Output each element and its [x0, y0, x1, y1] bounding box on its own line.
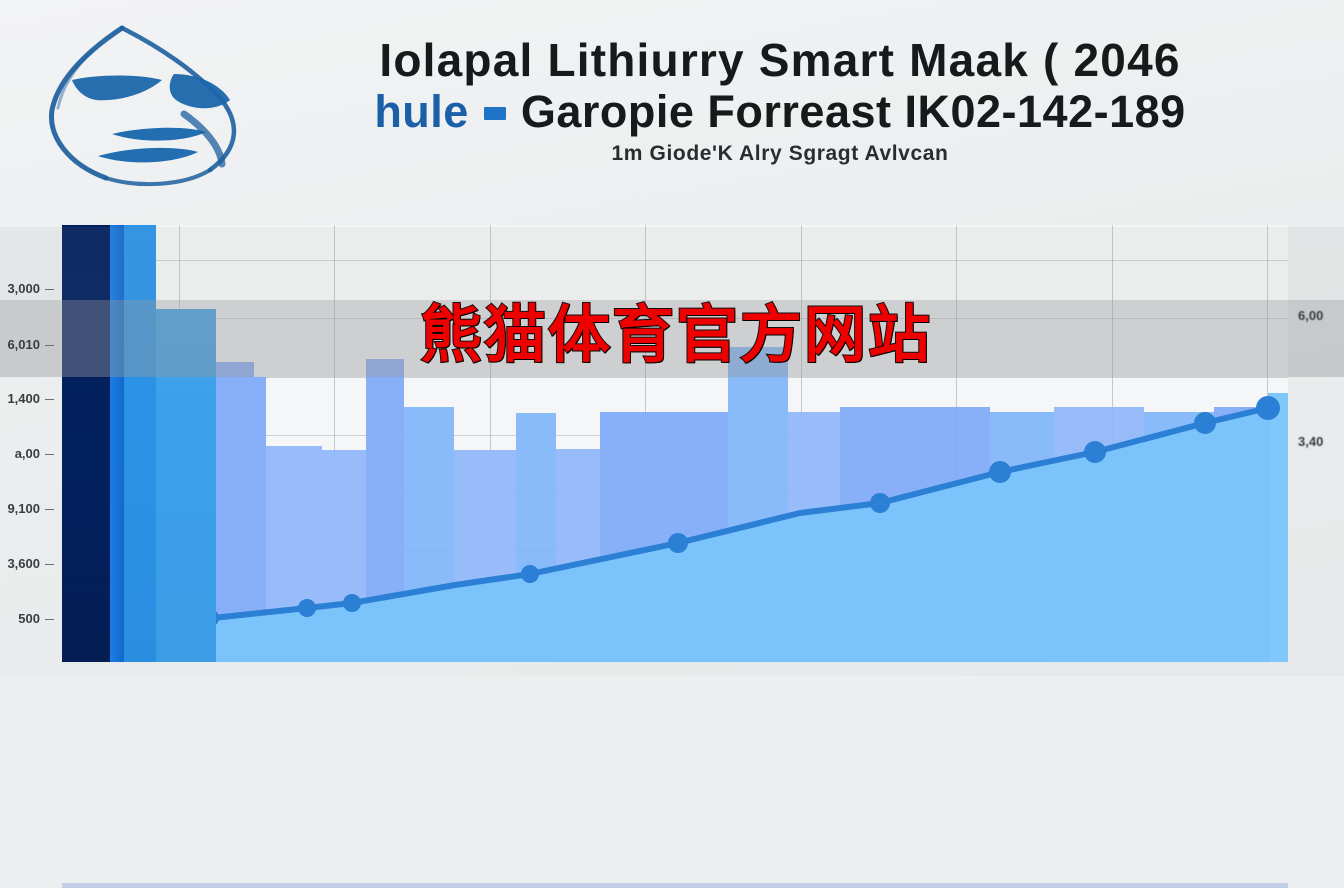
data-point — [298, 599, 316, 617]
highlight-band-upper — [0, 227, 1344, 300]
legend-swatch-icon — [484, 107, 506, 120]
y-axis-tick: 9,100 — [0, 501, 54, 516]
data-point — [343, 594, 361, 612]
chart-subtitle: 1m Giode'K Alry Sgragt Avlvcan — [250, 142, 1310, 166]
y-axis-tick: 3,000 — [0, 281, 54, 296]
chart-title-line-2: hule Garopie Forreast IK02-142-189 — [250, 86, 1310, 138]
y-axis-tick: a,00 — [0, 446, 54, 461]
data-point — [1194, 412, 1216, 434]
y-axis-tick-right: 6,00 — [1298, 308, 1323, 323]
data-point — [668, 533, 688, 553]
y-axis-tick-right: 3,40 — [1298, 434, 1323, 449]
title-rest: Forreast IK02-142-189 — [707, 86, 1185, 137]
page-root: Iolapal Lithiurry Smart Maak ( 2046 hule… — [0, 0, 1344, 676]
chart-title-line-1: Iolapal Lithiurry Smart Maak ( 2046 — [250, 34, 1310, 86]
data-point — [870, 493, 890, 513]
data-point — [1256, 396, 1280, 420]
data-point — [1084, 441, 1106, 463]
title-block: Iolapal Lithiurry Smart Maak ( 2046 hule… — [250, 34, 1310, 204]
data-point — [521, 565, 539, 583]
title-accent-word: hule — [374, 86, 469, 137]
y-axis-tick: 1,400 — [0, 391, 54, 406]
y-axis-tick: 500 — [0, 611, 54, 626]
title-middle-word: Garopie — [521, 86, 695, 137]
y-axis-tick: 3,600 — [0, 556, 54, 571]
abstract-diamond-logo — [34, 18, 274, 193]
header: Iolapal Lithiurry Smart Maak ( 2046 hule… — [0, 0, 1344, 225]
axis-baseline — [62, 883, 1288, 888]
y-axis-tick: 6,010 — [0, 337, 54, 352]
data-point — [989, 461, 1011, 483]
watermark-text: 熊猫体育官方网站 — [420, 297, 930, 375]
